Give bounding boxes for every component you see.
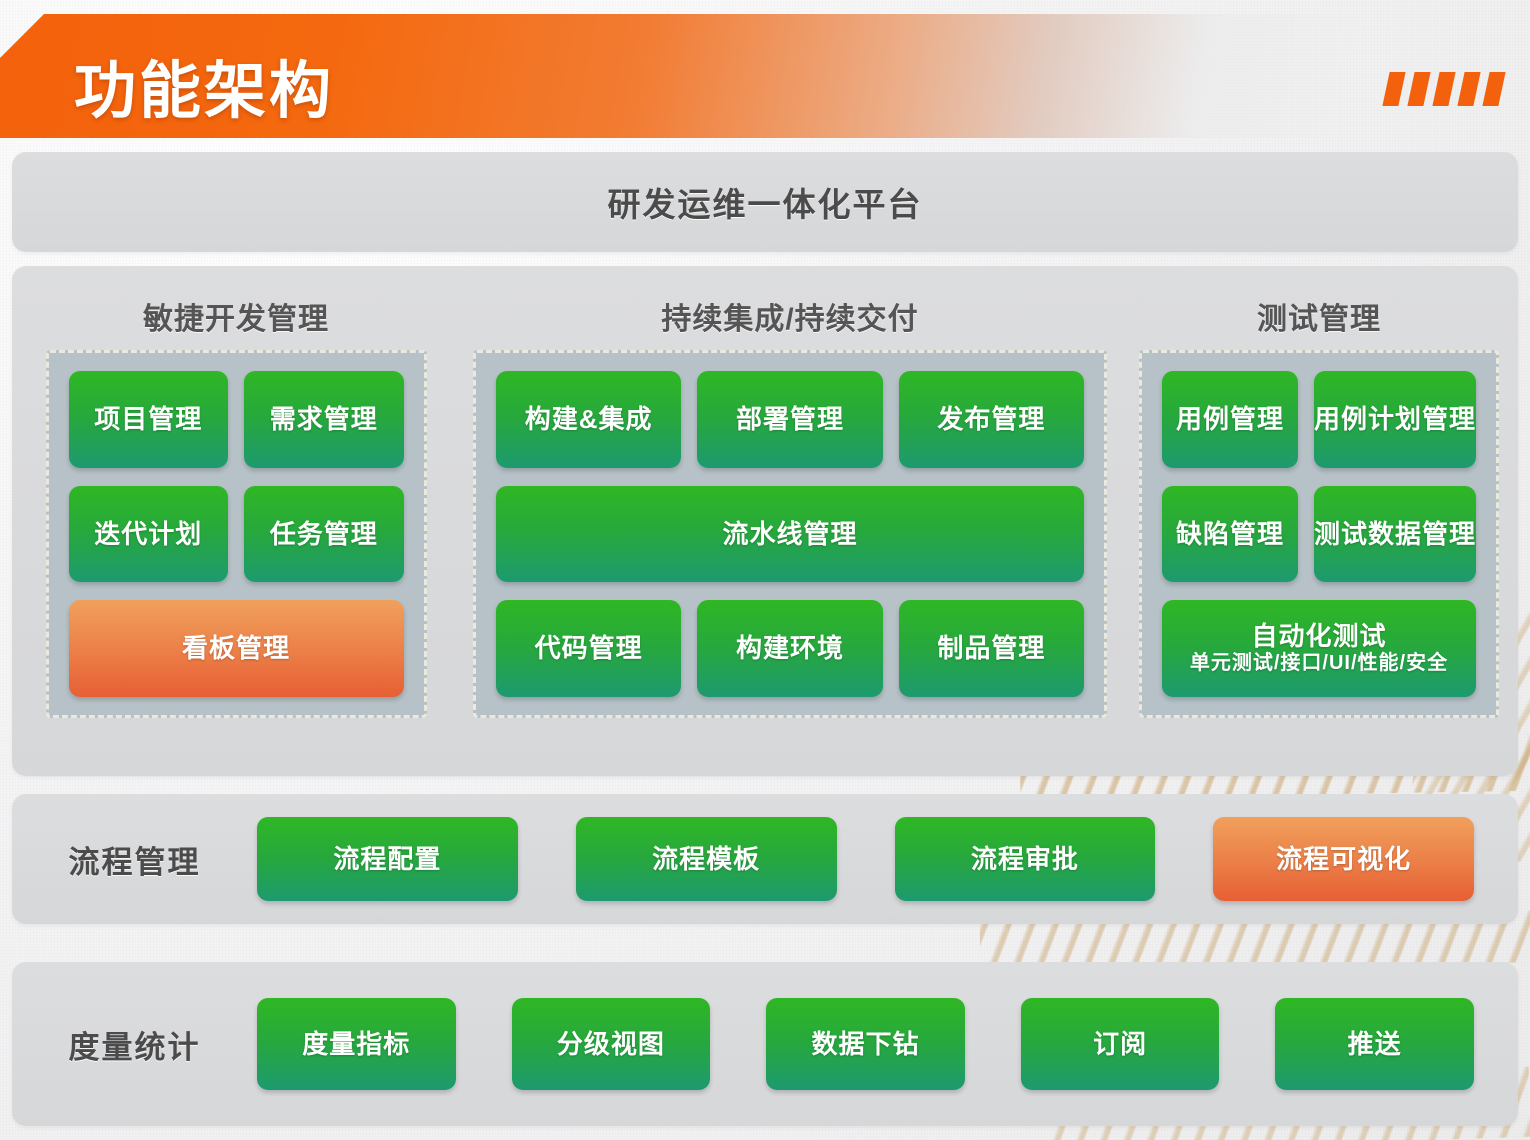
capability-group-box: 构建&集成部署管理发布管理流水线管理代码管理构建环境制品管理 (473, 350, 1107, 718)
page-title: 功能架构 (74, 40, 334, 130)
feature-button-label: 缺陷管理 (1176, 520, 1284, 549)
process-button-label: 流程模板 (652, 845, 760, 874)
capability-row: 项目管理需求管理 (69, 371, 404, 468)
feature-button-sublabel: 单元测试/接口/UI/性能/安全 (1190, 652, 1448, 675)
platform-title: 研发运维一体化平台 (608, 178, 923, 226)
feature-button[interactable]: 自动化测试单元测试/接口/UI/性能/安全 (1162, 600, 1476, 697)
process-button[interactable]: 流程可视化 (1213, 817, 1474, 901)
capability-column: 持续集成/持续交付构建&集成部署管理发布管理流水线管理代码管理构建环境制品管理 (460, 266, 1120, 776)
feature-button[interactable]: 代码管理 (496, 600, 681, 697)
metrics-button-label: 数据下钻 (811, 1030, 919, 1059)
feature-button-label: 代码管理 (535, 634, 643, 663)
process-button[interactable]: 流程模板 (576, 817, 837, 901)
feature-button[interactable]: 项目管理 (69, 371, 229, 468)
process-button-label: 流程可视化 (1276, 845, 1411, 874)
feature-button[interactable]: 迭代计划 (69, 486, 229, 583)
feature-button[interactable]: 测试数据管理 (1314, 486, 1476, 583)
metrics-button-label: 订阅 (1093, 1030, 1147, 1059)
process-management-label: 流程管理 (12, 837, 257, 882)
process-button[interactable]: 流程配置 (257, 817, 518, 901)
metrics-button-label: 分级视图 (557, 1030, 665, 1059)
feature-button-label: 需求管理 (270, 405, 378, 434)
feature-button[interactable]: 需求管理 (244, 371, 404, 468)
process-button[interactable]: 流程审批 (895, 817, 1156, 901)
capability-panel: 敏捷开发管理项目管理需求管理迭代计划任务管理看板管理持续集成/持续交付构建&集成… (12, 266, 1518, 776)
process-button-label: 流程配置 (333, 845, 441, 874)
page-header: 功能架构 (0, 14, 1530, 138)
feature-button[interactable]: 构建环境 (697, 600, 882, 697)
capability-group-box: 用例管理用例计划管理缺陷管理测试数据管理自动化测试单元测试/接口/UI/性能/安… (1139, 350, 1499, 718)
capability-column: 测试管理用例管理用例计划管理缺陷管理测试数据管理自动化测试单元测试/接口/UI/… (1120, 266, 1518, 776)
process-buttons: 流程配置流程模板流程审批流程可视化 (257, 817, 1518, 901)
process-button-label: 流程审批 (971, 845, 1079, 874)
feature-button[interactable]: 构建&集成 (496, 371, 681, 468)
feature-button[interactable]: 用例管理 (1162, 371, 1298, 468)
feature-button-label: 制品管理 (937, 634, 1045, 663)
feature-button-label: 项目管理 (94, 405, 202, 434)
feature-button-label: 迭代计划 (94, 520, 202, 549)
capability-row: 流水线管理 (496, 486, 1084, 583)
feature-button-label: 部署管理 (736, 405, 844, 434)
feature-button[interactable]: 制品管理 (899, 600, 1084, 697)
feature-button-label: 构建&集成 (525, 405, 653, 434)
feature-button-label: 测试数据管理 (1314, 520, 1476, 549)
metrics-button[interactable]: 度量指标 (257, 998, 456, 1090)
feature-button-label: 用例管理 (1176, 405, 1284, 434)
platform-banner: 研发运维一体化平台 (12, 152, 1518, 252)
slide-canvas: 功能架构 研发运维一体化平台 敏捷开发管理项目管理需求管理迭代计划任务管理看板管… (0, 0, 1530, 1140)
feature-button[interactable]: 流水线管理 (496, 486, 1084, 583)
feature-button[interactable]: 看板管理 (69, 600, 404, 697)
feature-button-label: 任务管理 (270, 520, 378, 549)
feature-button-label: 自动化测试 (1251, 622, 1386, 651)
feature-button-label: 流水线管理 (722, 520, 857, 549)
feature-button-label: 用例计划管理 (1314, 405, 1476, 434)
metrics-statistics-row: 度量统计 度量指标分级视图数据下钻订阅推送 (12, 962, 1518, 1126)
capability-row: 迭代计划任务管理 (69, 486, 404, 583)
metrics-button[interactable]: 推送 (1275, 998, 1474, 1090)
capability-row: 代码管理构建环境制品管理 (496, 600, 1084, 697)
capability-row: 看板管理 (69, 600, 404, 697)
capability-row: 自动化测试单元测试/接口/UI/性能/安全 (1162, 600, 1476, 697)
feature-button[interactable]: 缺陷管理 (1162, 486, 1298, 583)
capability-row: 构建&集成部署管理发布管理 (496, 371, 1084, 468)
metrics-button-label: 度量指标 (302, 1030, 410, 1059)
capability-column-title: 敏捷开发管理 (143, 294, 329, 338)
capability-row: 缺陷管理测试数据管理 (1162, 486, 1476, 583)
feature-button[interactable]: 发布管理 (899, 371, 1084, 468)
capability-columns: 敏捷开发管理项目管理需求管理迭代计划任务管理看板管理持续集成/持续交付构建&集成… (12, 266, 1518, 776)
feature-button[interactable]: 部署管理 (697, 371, 882, 468)
metrics-button[interactable]: 分级视图 (512, 998, 711, 1090)
capability-column-title: 测试管理 (1257, 294, 1381, 338)
metrics-button[interactable]: 订阅 (1021, 998, 1220, 1090)
metrics-buttons: 度量指标分级视图数据下钻订阅推送 (257, 998, 1518, 1090)
feature-button-label: 发布管理 (937, 405, 1045, 434)
metrics-button-label: 推送 (1348, 1030, 1402, 1059)
feature-button-label: 看板管理 (182, 634, 290, 663)
header-decor-bars-icon (1386, 72, 1502, 106)
capability-column: 敏捷开发管理项目管理需求管理迭代计划任务管理看板管理 (12, 266, 460, 776)
capability-column-title: 持续集成/持续交付 (661, 294, 918, 338)
capability-group-box: 项目管理需求管理迭代计划任务管理看板管理 (46, 350, 427, 718)
capability-row: 用例管理用例计划管理 (1162, 371, 1476, 468)
feature-button[interactable]: 任务管理 (244, 486, 404, 583)
feature-button-label: 构建环境 (736, 634, 844, 663)
feature-button[interactable]: 用例计划管理 (1314, 371, 1476, 468)
metrics-button[interactable]: 数据下钻 (766, 998, 965, 1090)
metrics-statistics-label: 度量统计 (12, 1022, 257, 1067)
process-management-row: 流程管理 流程配置流程模板流程审批流程可视化 (12, 794, 1518, 924)
